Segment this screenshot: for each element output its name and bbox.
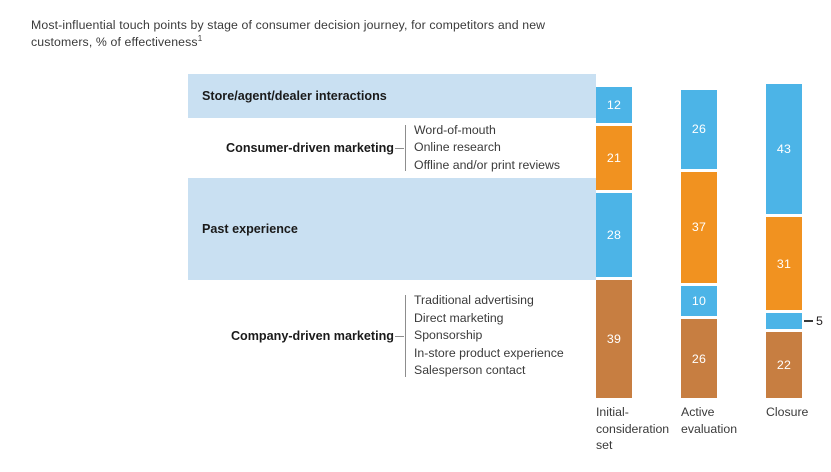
category-row-past-experience: Past experience [188, 178, 598, 280]
stacked-column-closure[interactable]: 4331522 [766, 84, 802, 398]
bar-segment[interactable]: 43 [766, 84, 802, 214]
list-item: Sponsorship [414, 327, 564, 345]
category-label-consumer-driven: Consumer-driven marketing [188, 141, 394, 155]
bar-segment-value: 26 [692, 352, 706, 366]
stacked-column-active-evaluation[interactable]: 26371026 [681, 90, 717, 398]
category-group-consumer-driven: Consumer-driven marketing Word-of-mouth … [188, 122, 598, 175]
bar-segment-value: 5 [813, 314, 823, 328]
bar-segment[interactable]: 5 [766, 313, 802, 328]
axis-label-active-evaluation: Activeevaluation [681, 404, 767, 437]
list-item: Direct marketing [414, 310, 564, 328]
bar-segment-callout: 5 [804, 314, 823, 328]
bar-segment[interactable]: 12 [596, 87, 632, 123]
bar-segment-value: 21 [607, 151, 621, 165]
axis-label-line: evaluation [681, 421, 767, 438]
stacked-column-initial-consideration-set[interactable]: 12212839 [596, 87, 632, 398]
axis-label-initial-consideration-set: Initial-considerationset [596, 404, 682, 454]
bar-segment-value: 39 [607, 332, 621, 346]
bar-segment[interactable]: 21 [596, 126, 632, 189]
bar-segment-value: 12 [607, 98, 621, 112]
category-legend-area: Store/agent/dealer interactions Consumer… [0, 0, 600, 472]
list-item: Salesperson contact [414, 362, 564, 380]
brace-icon-consumer-driven [394, 122, 408, 175]
list-item: In-store product experience [414, 345, 564, 363]
list-item: Offline and/or print reviews [414, 157, 560, 175]
list-item: Word-of-mouth [414, 122, 560, 140]
bar-segment-value: 26 [692, 122, 706, 136]
callout-leader-line [804, 320, 813, 321]
axis-label-line: consideration [596, 421, 682, 438]
brace-icon-company-driven [394, 292, 408, 380]
category-sublist-company-driven: Traditional advertising Direct marketing… [408, 292, 564, 380]
axis-label-line: Initial- [596, 404, 682, 421]
bar-segment[interactable]: 26 [681, 90, 717, 169]
bar-segment-value: 43 [777, 142, 791, 156]
bar-segment-value: 28 [607, 228, 621, 242]
category-row-consumer-driven: Consumer-driven marketing Word-of-mouth … [188, 118, 598, 178]
bar-segment[interactable]: 37 [681, 172, 717, 284]
category-label-company-driven: Company-driven marketing [188, 329, 394, 343]
axis-label-closure: Closure [766, 404, 831, 421]
bar-segment[interactable]: 28 [596, 193, 632, 278]
list-item: Online research [414, 139, 560, 157]
axis-label-line: set [596, 437, 682, 454]
category-row-company-driven: Company-driven marketing Traditional adv… [188, 285, 598, 387]
axis-label-line: Active [681, 404, 767, 421]
bar-segment[interactable]: 10 [681, 286, 717, 316]
list-item: Traditional advertising [414, 292, 564, 310]
category-row-store: Store/agent/dealer interactions [188, 74, 598, 118]
axis-label-line: Closure [766, 404, 831, 421]
bar-segment-value: 37 [692, 220, 706, 234]
category-group-company-driven: Company-driven marketing Traditional adv… [188, 292, 598, 380]
bar-segment[interactable]: 22 [766, 332, 802, 398]
category-label-past-experience: Past experience [188, 222, 298, 236]
bar-segment-value: 10 [692, 294, 706, 308]
bar-segment-value: 31 [777, 257, 791, 271]
category-label-store: Store/agent/dealer interactions [188, 89, 387, 103]
bar-segment[interactable]: 31 [766, 217, 802, 311]
bar-segment[interactable]: 26 [681, 319, 717, 398]
bar-segment-value: 22 [777, 358, 791, 372]
bar-segment[interactable]: 39 [596, 280, 632, 398]
category-sublist-consumer-driven: Word-of-mouth Online research Offline an… [408, 122, 560, 175]
